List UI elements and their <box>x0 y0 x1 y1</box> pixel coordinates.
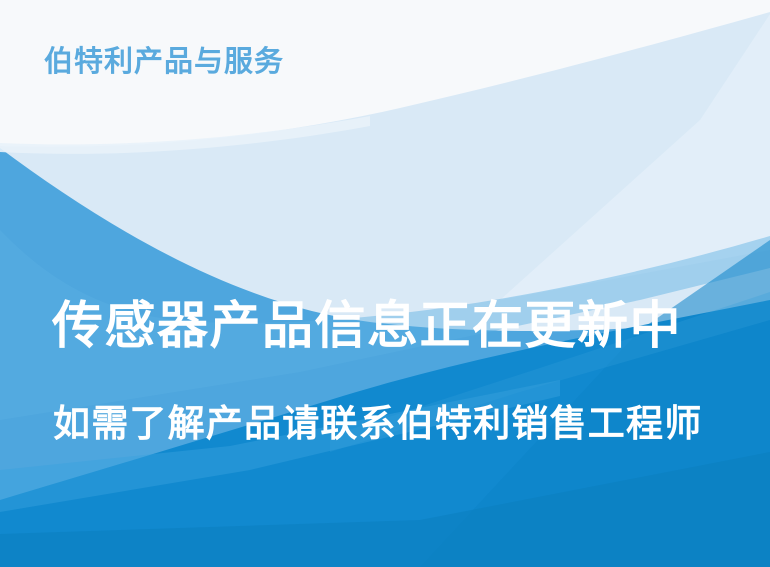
banner-headline: 传感器产品信息正在更新中 <box>52 297 682 354</box>
banner-eyebrow-title: 伯特利产品与服务 <box>44 47 284 79</box>
banner-content: 伯特利产品与服务 传感器产品信息正在更新中 如需了解产品请联系伯特利销售工程师 <box>0 0 770 567</box>
banner-subheadline: 如需了解产品请联系伯特利销售工程师 <box>53 403 702 444</box>
product-service-banner: 伯特利产品与服务 传感器产品信息正在更新中 如需了解产品请联系伯特利销售工程师 <box>0 0 770 567</box>
